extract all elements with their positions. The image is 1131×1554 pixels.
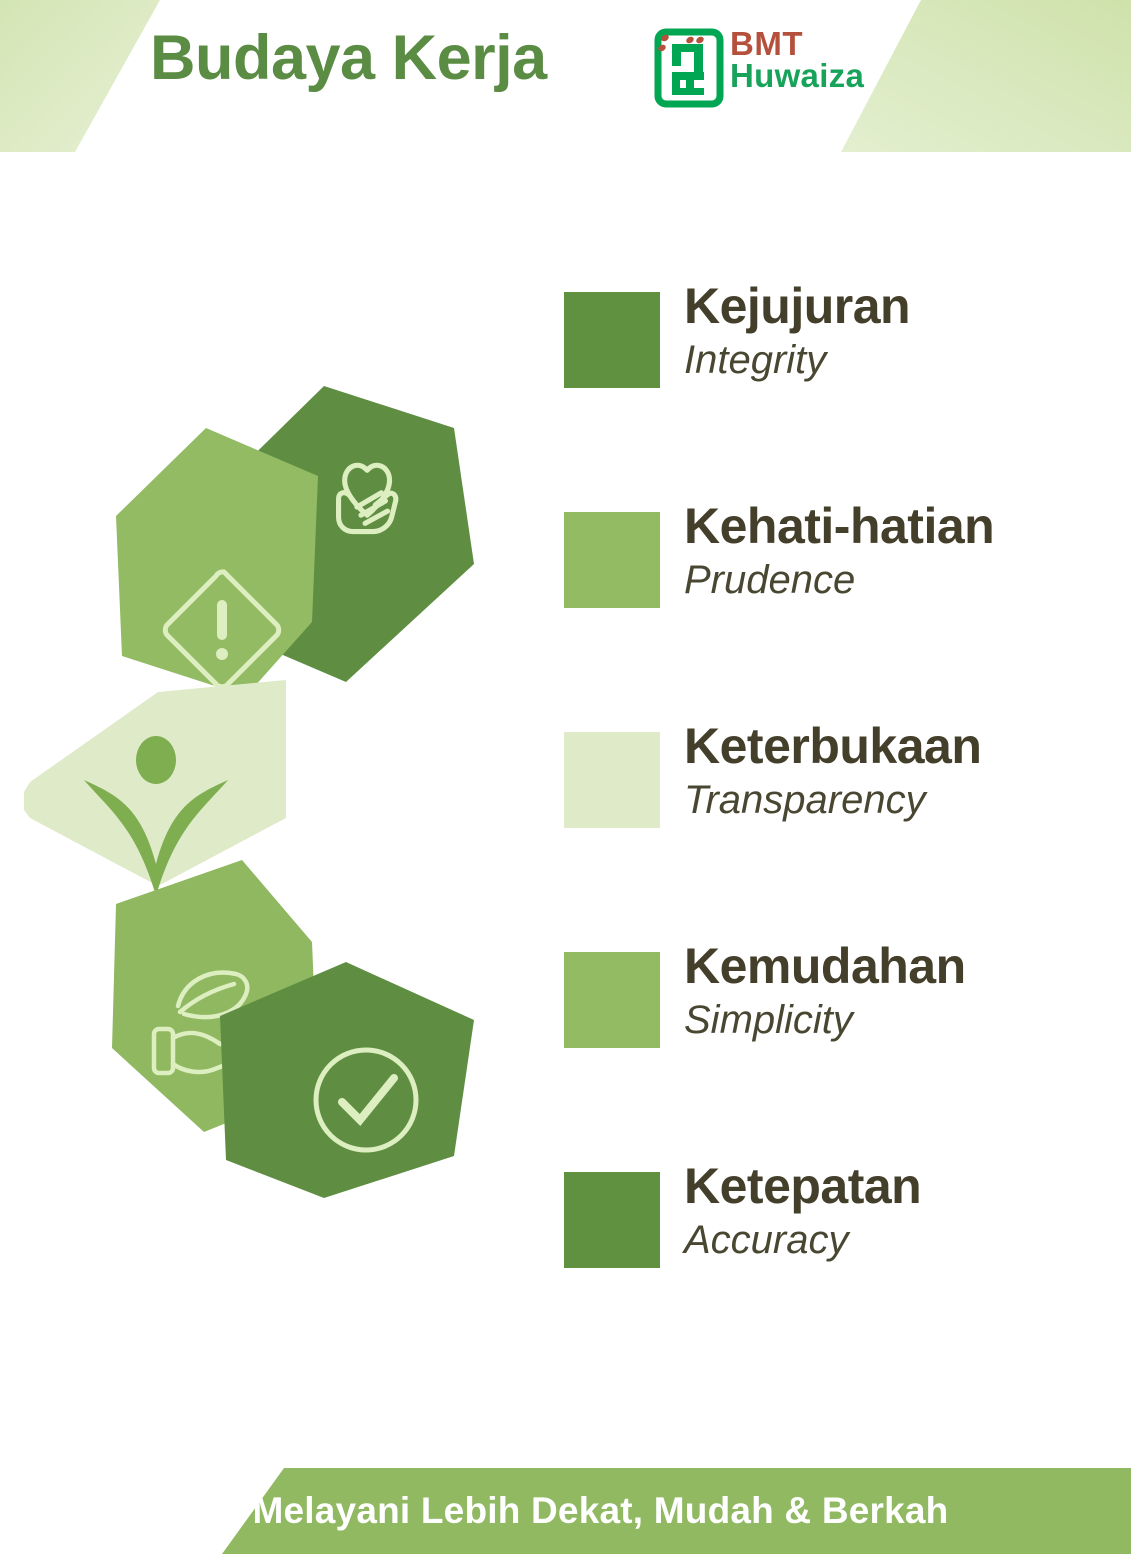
legend-row: Keterbukaan Transparency (564, 730, 1104, 950)
legend-term: Kemudahan (684, 938, 966, 994)
legend-texts: Keterbukaan Transparency (684, 718, 981, 824)
legend-term: Keterbukaan (684, 718, 981, 774)
legend-gloss: Transparency (684, 776, 981, 824)
hexagon-keterbukaan[interactable] (24, 680, 286, 896)
brand-name-bmt: BMT (730, 28, 864, 60)
brand-name-huwaiza: Huwaiza (730, 60, 864, 92)
legend-swatch-kejujuran (564, 292, 660, 388)
legend-swatch-ketepatan (564, 1172, 660, 1268)
legend-gloss: Integrity (684, 336, 910, 384)
legend-term: Kehati-hatian (684, 498, 994, 554)
legend-gloss: Simplicity (684, 996, 966, 1044)
legend-texts: Kejujuran Integrity (684, 278, 910, 384)
legend-swatch-keterbukaan (564, 732, 660, 828)
footer-banner: Melayani Lebih Dekat, Mudah & Berkah (0, 1468, 1131, 1554)
legend-swatch-kemudahan (564, 952, 660, 1048)
values-legend: Kejujuran Integrity Kehati-hatian Pruden… (564, 290, 1104, 1390)
legend-row: Kehati-hatian Prudence (564, 510, 1104, 730)
legend-texts: Kehati-hatian Prudence (684, 498, 994, 604)
legend-row: Kejujuran Integrity (564, 290, 1104, 510)
page-title: Budaya Kerja (150, 22, 547, 94)
legend-term: Kejujuran (684, 278, 910, 334)
arabic-calligraphy-square-icon (650, 26, 724, 108)
brand-wordmark: BMT Huwaiza (730, 28, 864, 93)
header-banner: Budaya Kerja BMT Huw (0, 0, 1131, 152)
poster-canvas: Budaya Kerja BMT Huw (0, 0, 1131, 1554)
hexagon-cluster-svg (24, 372, 504, 1210)
hexagon-cluster-diagram (24, 372, 504, 1210)
legend-swatch-kehati-hatian (564, 512, 660, 608)
legend-texts: Kemudahan Simplicity (684, 938, 966, 1044)
brand-logo: BMT Huwaiza (650, 26, 900, 108)
legend-row: Kemudahan Simplicity (564, 950, 1104, 1170)
legend-texts: Ketepatan Accuracy (684, 1158, 921, 1264)
legend-term: Ketepatan (684, 1158, 921, 1214)
legend-gloss: Prudence (684, 556, 994, 604)
legend-row: Ketepatan Accuracy (564, 1170, 1104, 1390)
footer-tagline: Melayani Lebih Dekat, Mudah & Berkah (0, 1468, 1131, 1554)
legend-gloss: Accuracy (684, 1216, 921, 1264)
